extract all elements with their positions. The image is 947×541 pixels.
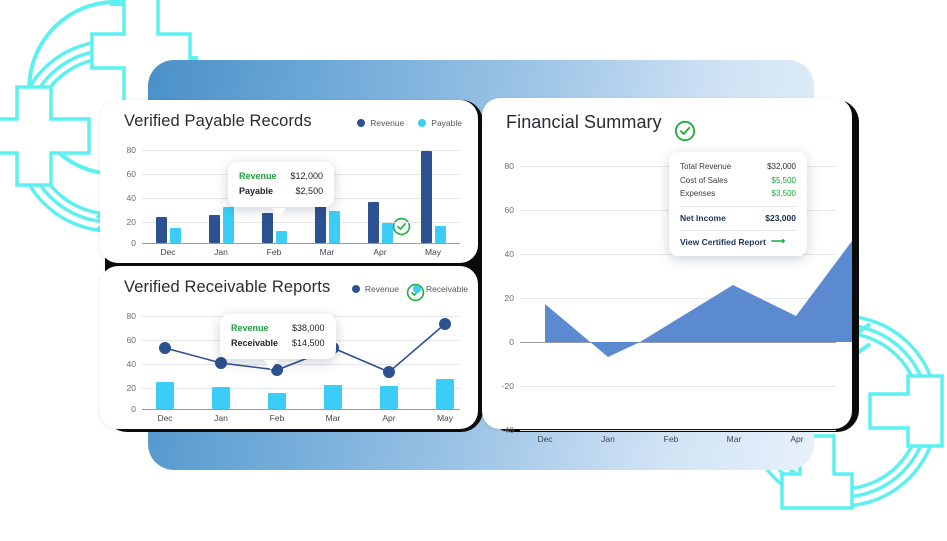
summary-label-net-income: Net Income xyxy=(680,212,726,226)
bar-payable-jan[interactable] xyxy=(223,207,234,243)
x-axis-line xyxy=(142,243,460,244)
summary-divider-2 xyxy=(680,230,796,231)
xtick-apr: Apr xyxy=(367,413,411,423)
verified-receivable-reports-card: Verified Receivable Reports Revenue Rece… xyxy=(100,266,478,429)
xtick-jan: Jan xyxy=(586,434,630,444)
ytick-20: 20 xyxy=(114,217,136,227)
ytick-0: 0 xyxy=(114,238,136,248)
xtick-jan: Jan xyxy=(199,413,243,423)
gridline-20 xyxy=(142,222,460,223)
tooltip-key-payable: Payable xyxy=(239,184,273,199)
summary-value-net-income: $23,000 xyxy=(765,212,796,226)
ytick-60: 60 xyxy=(114,169,136,179)
bar-payable-feb[interactable] xyxy=(276,231,287,243)
dot-revenue-dec[interactable] xyxy=(159,342,171,354)
bar-payable-may[interactable] xyxy=(435,226,446,243)
tooltip-value-revenue: $12,000 xyxy=(291,169,324,184)
xtick-dec: Dec xyxy=(523,434,567,444)
bar-revenue-feb[interactable] xyxy=(262,213,273,243)
bar-payable-dec[interactable] xyxy=(170,228,181,243)
tooltip-row-revenue: Revenue $38,000 xyxy=(231,321,325,336)
summary-label-cost-of-sales: Cost of Sales xyxy=(680,174,728,188)
bar-revenue-dec[interactable] xyxy=(156,217,167,243)
tooltip-row-payable: Payable $2,500 xyxy=(239,184,323,199)
summary-row-expenses: Expenses $3,500 xyxy=(680,187,796,201)
tooltip-row-receivable: Receivable $14,500 xyxy=(231,336,325,351)
xtick-feb: Feb xyxy=(255,413,299,423)
gridline-neg40 xyxy=(520,430,836,431)
xtick-feb: Feb xyxy=(252,247,296,257)
xtick-may: May xyxy=(423,413,467,423)
arrow-right-icon: ⟶ xyxy=(771,236,785,247)
tooltip-row-revenue: Revenue $12,000 xyxy=(239,169,323,184)
dot-revenue-may[interactable] xyxy=(439,318,451,330)
tooltip-key-revenue: Revenue xyxy=(231,321,269,336)
xtick-apr: Apr xyxy=(775,434,819,444)
tooltip-value-payable: $2,500 xyxy=(296,184,324,199)
summary-value-total-revenue: $32,000 xyxy=(767,160,796,174)
xtick-jan: Jan xyxy=(199,247,243,257)
view-certified-report-label: View Certified Report xyxy=(680,237,766,247)
tooltip-value-receivable: $14,500 xyxy=(292,336,325,351)
summary-row-total-revenue: Total Revenue $32,000 xyxy=(680,160,796,174)
view-certified-report-link[interactable]: View Certified Report ⟶ xyxy=(680,236,796,247)
payable-tooltip: Revenue $12,000 Payable $2,500 xyxy=(228,162,334,207)
summary-value-expenses: $3,500 xyxy=(772,187,796,201)
gridline-80 xyxy=(142,150,460,151)
xtick-mar: Mar xyxy=(712,434,756,444)
summary-divider-1 xyxy=(680,206,796,207)
tooltip-value-revenue: $38,000 xyxy=(292,321,325,336)
bar-revenue-jan[interactable] xyxy=(209,215,220,243)
summary-row-cost-of-sales: Cost of Sales $5,500 xyxy=(680,174,796,188)
xtick-mar: Mar xyxy=(311,413,355,423)
summary-label-total-revenue: Total Revenue xyxy=(680,160,731,174)
ytick-40: 40 xyxy=(114,193,136,203)
bar-revenue-may[interactable] xyxy=(421,151,432,243)
xtick-apr: Apr xyxy=(358,247,402,257)
summary-value-cost-of-sales: $5,500 xyxy=(772,174,796,188)
summary-row-net-income: Net Income $23,000 xyxy=(680,212,796,226)
xtick-dec: Dec xyxy=(146,247,190,257)
summary-area-plot: 80 60 40 20 0 -20 -40 Dec Jan Feb Mar Ap… xyxy=(482,98,852,429)
illustration-canvas: Verified Payable Records Revenue Payable… xyxy=(0,0,947,533)
dot-revenue-apr[interactable] xyxy=(383,366,395,378)
ytick-80: 80 xyxy=(114,145,136,155)
xtick-mar: Mar xyxy=(305,247,349,257)
bar-payable-mar[interactable] xyxy=(329,211,340,243)
bar-payable-apr[interactable] xyxy=(382,223,393,243)
net-income-area-series xyxy=(482,98,852,429)
dot-revenue-jan[interactable] xyxy=(215,357,227,369)
xtick-may: May xyxy=(411,247,455,257)
bar-revenue-apr[interactable] xyxy=(368,202,379,243)
tooltip-key-revenue: Revenue xyxy=(239,169,277,184)
financial-summary-card: Financial Summary 80 60 40 20 0 -20 -40 xyxy=(482,98,852,429)
receivable-tooltip: Revenue $38,000 Receivable $14,500 xyxy=(220,314,336,359)
xtick-feb: Feb xyxy=(649,434,693,444)
summary-label-expenses: Expenses xyxy=(680,187,715,201)
xtick-dec: Dec xyxy=(143,413,187,423)
tooltip-key-receivable: Receivable xyxy=(231,336,278,351)
verified-payable-records-card: Verified Payable Records Revenue Payable… xyxy=(100,100,478,263)
financial-summary-tooltip: Total Revenue $32,000 Cost of Sales $5,5… xyxy=(669,152,807,256)
